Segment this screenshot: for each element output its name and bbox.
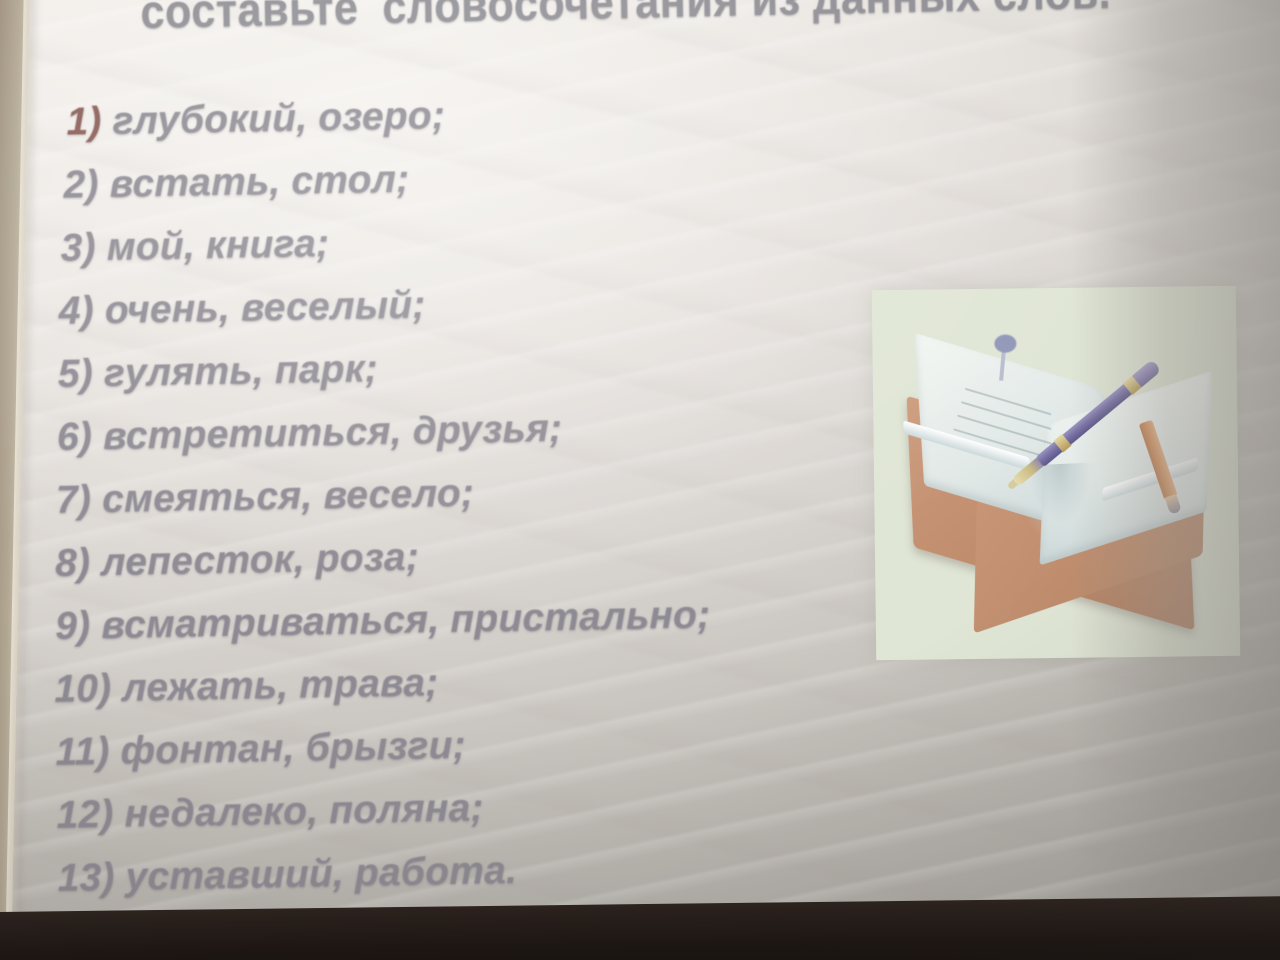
photo-vignette	[0, 0, 1280, 960]
projected-slide-photo: составьтесловосочетания из данных слов. …	[0, 0, 1280, 960]
